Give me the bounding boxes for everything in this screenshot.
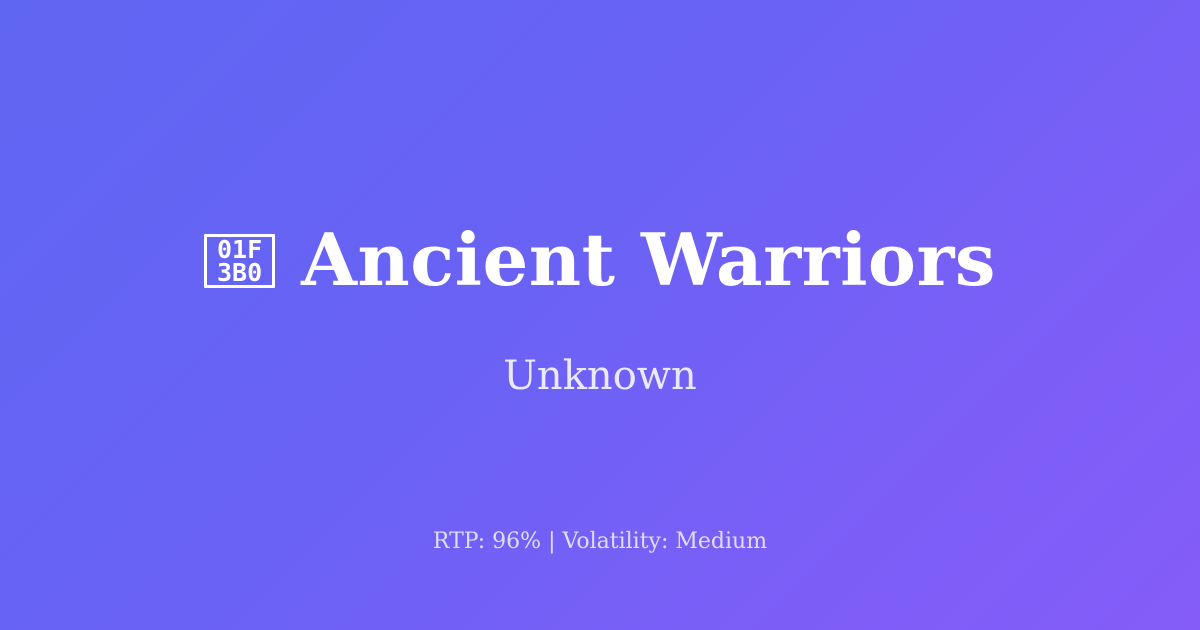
game-subtitle: Unknown [503,352,697,400]
slot-machine-icon: 01F 3B0 [204,234,275,288]
tofu-codepoint-bottom: 3B0 [217,261,262,284]
game-og-card: 01F 3B0 Ancient Warriors Unknown RTP: 96… [0,0,1200,630]
title-row: 01F 3B0 Ancient Warriors [204,222,996,298]
game-meta-line: RTP: 96% | Volatility: Medium [0,528,1200,557]
hero-block: 01F 3B0 Ancient Warriors Unknown [0,222,1200,400]
game-title: Ancient Warriors [301,222,996,298]
